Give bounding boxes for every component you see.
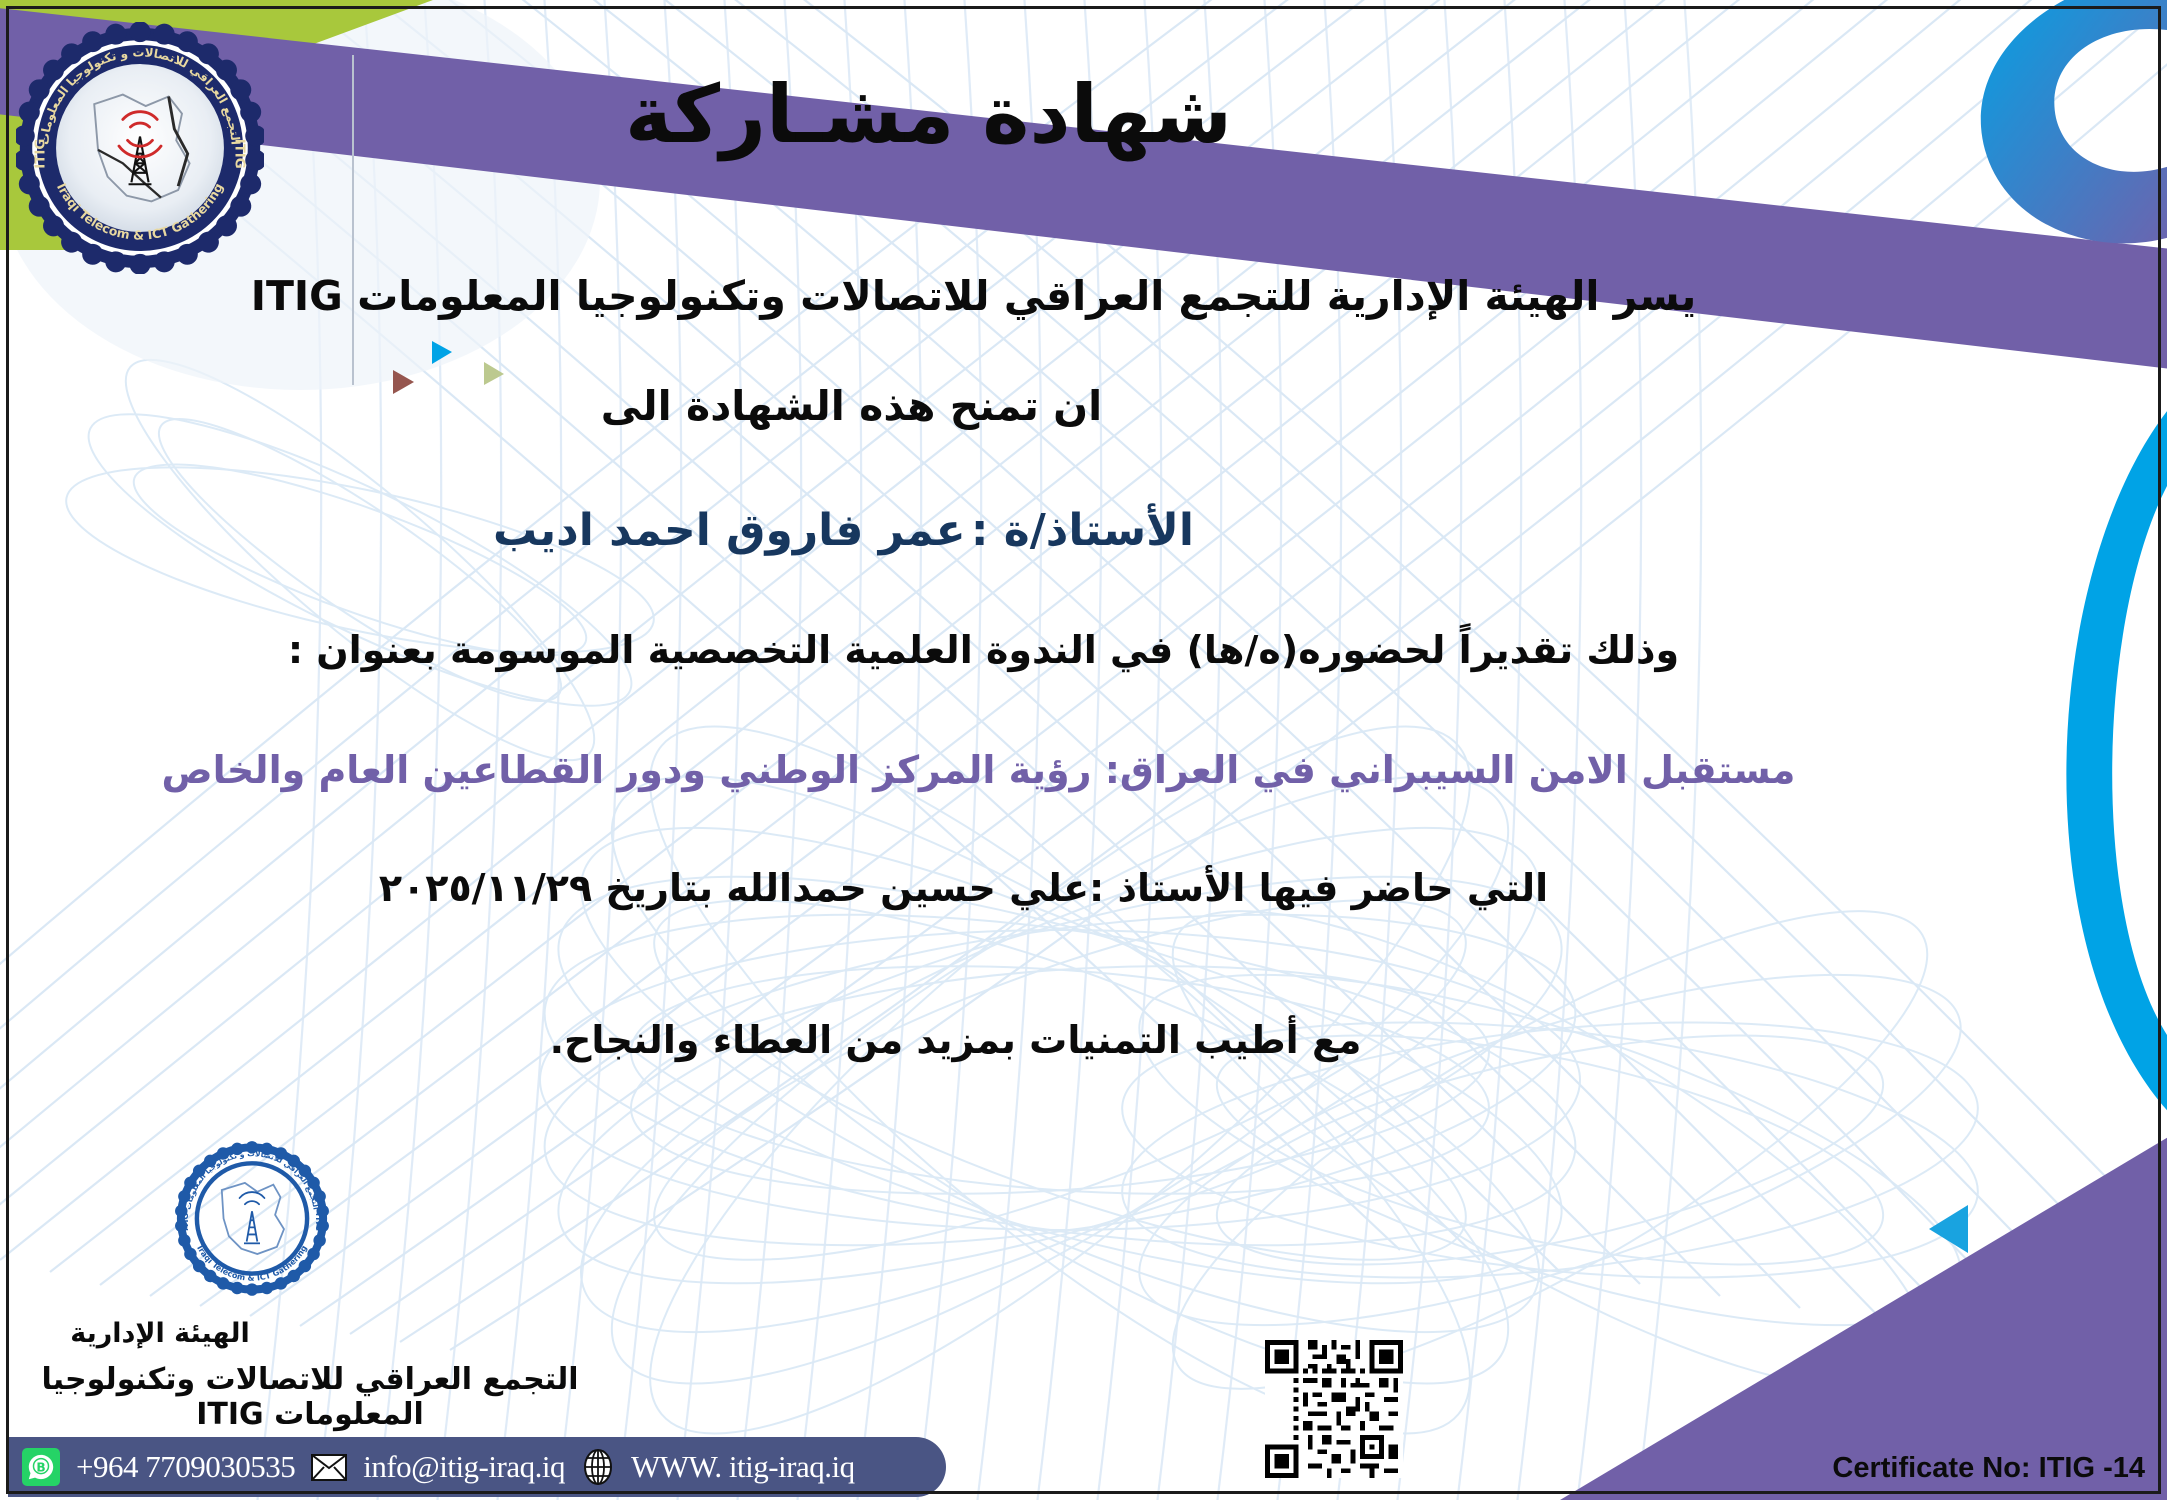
qr-code[interactable]: [1265, 1340, 1403, 1478]
whatsapp-business-icon[interactable]: B: [22, 1448, 60, 1486]
signature-role: الهيئة الإدارية: [0, 1318, 490, 1349]
recipient-row: الأستاذ/ة : عمر فاروق احمد اديب: [0, 505, 1927, 556]
signature-organization: التجمع العراقي للاتصالات وتكنولوجيا المع…: [0, 1362, 655, 1432]
certificate-number: Certificate No: ITIG -14: [1832, 1452, 2145, 1485]
recipient-name: عمر فاروق احمد اديب: [493, 505, 966, 556]
page-title: شهادة مشـاركة: [0, 68, 2012, 161]
seminar-title: مستقبل الامن السيبراني في العراق: رؤية ا…: [0, 748, 2062, 792]
lecturer-and-date-line: التي حاضر فيها الأستاذ :علي حسين حمدالله…: [0, 866, 2047, 910]
email-address[interactable]: info@itig-iraq.iq: [363, 1449, 565, 1485]
recipient-label: الأستاذ/ة :: [971, 505, 1194, 556]
attendance-reason-line: وذلك تقديراً لحضوره(ه/ها) في الندوة العل…: [0, 628, 2067, 672]
website-url[interactable]: WWW. itig-iraq.iq: [631, 1449, 855, 1485]
phone-number[interactable]: +964 7709030535: [76, 1449, 295, 1485]
award-intro-line: ان تمنح هذه الشهادة الى: [0, 382, 1935, 430]
envelope-icon: [311, 1454, 347, 1481]
globe-icon: [581, 1448, 615, 1486]
issuing-body-line: يسر الهيئة الإدارية للتجمع العراقي للاتص…: [0, 272, 2057, 320]
certificate-page: التجمع العراقي للاتصالات و تكنولوجيا الم…: [0, 0, 2167, 1500]
contact-footer-bar: B +964 7709030535 info@itig-iraq.iq WWW.…: [8, 1437, 946, 1497]
closing-wishes-line: مع أطيب التمنيات بمزيد من العطاء والنجاح…: [0, 1018, 2039, 1062]
